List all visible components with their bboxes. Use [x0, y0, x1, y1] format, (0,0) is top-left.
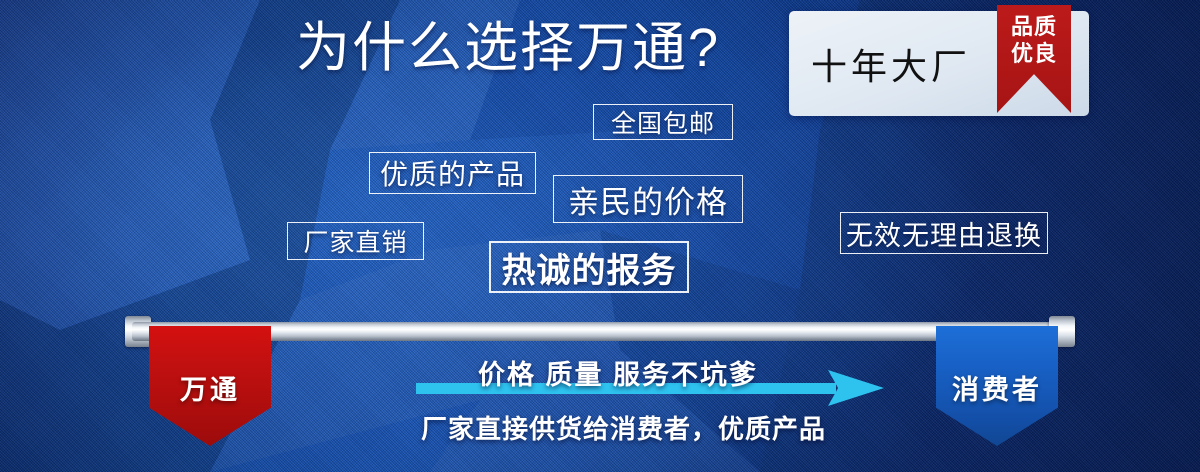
- ribbon-line-2: 优良: [997, 40, 1071, 67]
- feature-tag-free-shipping: 全国包邮: [593, 104, 733, 140]
- slogan-secondary: 厂家直接供货给消费者，优质产品: [421, 409, 826, 446]
- arrow-head-icon: [828, 370, 884, 406]
- feature-tag-affordable-price: 亲民的价格: [553, 175, 743, 223]
- pipe-rail: [132, 322, 1068, 341]
- promo-banner: 为什么选择万通? 十年大厂 品质 优良 全国包邮 优质的产品 亲民的价格 厂家直…: [0, 0, 1200, 472]
- quality-badge: 十年大厂 品质 优良: [789, 11, 1089, 116]
- feature-tag-quality-products: 优质的产品: [369, 152, 536, 194]
- feature-tag-factory-direct: 厂家直销: [287, 222, 424, 260]
- feature-tag-free-returns: 无效无理由退换: [840, 212, 1048, 254]
- badge-label: 十年大厂: [811, 38, 971, 90]
- flag-manufacturer-label: 万通: [180, 368, 240, 407]
- ribbon-banner: 品质 优良: [997, 5, 1071, 113]
- ribbon-line-1: 品质: [997, 13, 1071, 40]
- feature-tag-sincere-service: 热诚的报务: [489, 241, 689, 293]
- slogan-primary: 价格 质量 服务不坑爹: [478, 353, 758, 392]
- flag-consumer-label: 消费者: [952, 368, 1042, 407]
- page-title: 为什么选择万通?: [296, 18, 720, 78]
